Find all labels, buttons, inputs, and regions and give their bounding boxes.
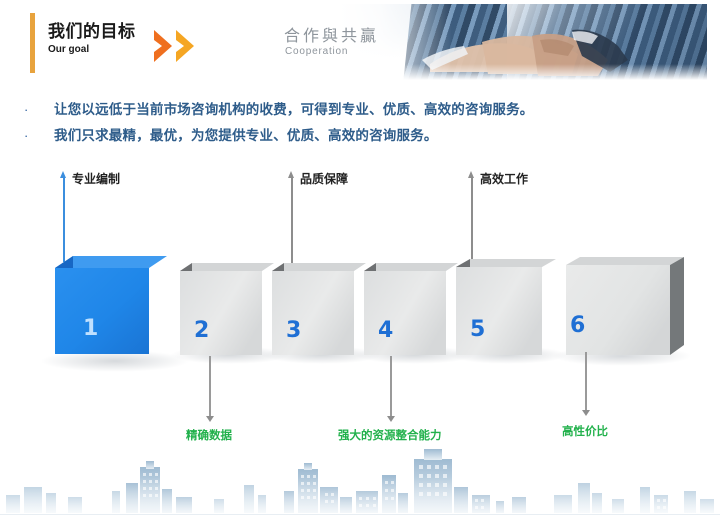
cube-5-number: 5	[470, 317, 485, 342]
cube-4-number: 4	[378, 318, 393, 343]
header-title-cn: 我们的目标	[48, 22, 136, 42]
down-arrow-head-3	[582, 410, 590, 416]
bullet-text: 让您以远低于当前市场咨询机构的收费，可得到专业、优质、高效的咨询服务。	[54, 100, 534, 120]
bullet-list: · 让您以远低于当前市场咨询机构的收费，可得到专业、优质、高效的咨询服务。 · …	[24, 100, 704, 152]
bottom-label-3: 高性价比	[562, 423, 608, 439]
cube-3-number: 3	[286, 318, 301, 343]
slide-header: 我们的目标 Our goal	[0, 0, 720, 88]
up-arrow-line-2	[291, 177, 293, 265]
cube-6[interactable]: 6	[562, 255, 674, 353]
down-arrow-line-2	[390, 356, 392, 416]
bottom-label-1: 精确数据	[186, 427, 232, 443]
down-arrow-head-2	[387, 416, 395, 422]
bullet-marker-icon: ·	[24, 126, 54, 146]
bullet-item: · 我们只求最精，最优，为您提供专业、优质、高效的咨询服务。	[24, 126, 704, 146]
cityscape-fade	[0, 447, 720, 513]
banner-caption-cn: 合作與共贏	[284, 22, 379, 46]
double-chevron-icon	[152, 28, 218, 64]
slide-canvas: 我们的目标 Our goal	[0, 0, 720, 521]
cube-5-geometry	[438, 255, 556, 359]
down-arrow-line-1	[209, 356, 211, 416]
bottom-label-2: 强大的资源整合能力	[338, 427, 442, 443]
banner-caption-en: Cooperation	[285, 46, 348, 57]
down-arrow-head-1	[206, 416, 214, 422]
bullet-marker-icon: ·	[24, 100, 54, 120]
cube-process-diagram: 专业编制 品质保障 高效工作 1	[0, 160, 720, 460]
banner-bottom-fade	[262, 64, 707, 80]
cube-5[interactable]: 5	[456, 259, 554, 351]
header-accent-bar	[30, 13, 35, 73]
cube-1-geometry	[37, 250, 167, 360]
top-label-3: 高效工作	[480, 170, 528, 187]
chevron-right-icon-2	[174, 28, 202, 64]
top-label-1: 专业编制	[72, 170, 120, 187]
bullet-text: 我们只求最精，最优，为您提供专业、优质、高效的咨询服务。	[54, 126, 438, 146]
down-arrow-line-3	[585, 352, 587, 410]
footer-baseline	[0, 514, 720, 515]
cube-6-geometry	[562, 251, 694, 363]
cube-6-number: 6	[570, 313, 585, 338]
top-label-2: 品质保障	[300, 170, 348, 187]
header-title-group: 我们的目标 Our goal	[48, 22, 136, 57]
up-arrow-line-3	[471, 177, 473, 265]
cityscape-silhouette	[0, 447, 720, 513]
header-banner-photo: 合作與共贏 Cooperation	[262, 4, 707, 80]
cube-2-number: 2	[194, 318, 209, 343]
cube-1[interactable]: 1	[55, 258, 165, 354]
header-title-en: Our goal	[48, 43, 136, 57]
cube-1-number: 1	[83, 316, 98, 341]
bullet-item: · 让您以远低于当前市场咨询机构的收费，可得到专业、优质、高效的咨询服务。	[24, 100, 704, 120]
